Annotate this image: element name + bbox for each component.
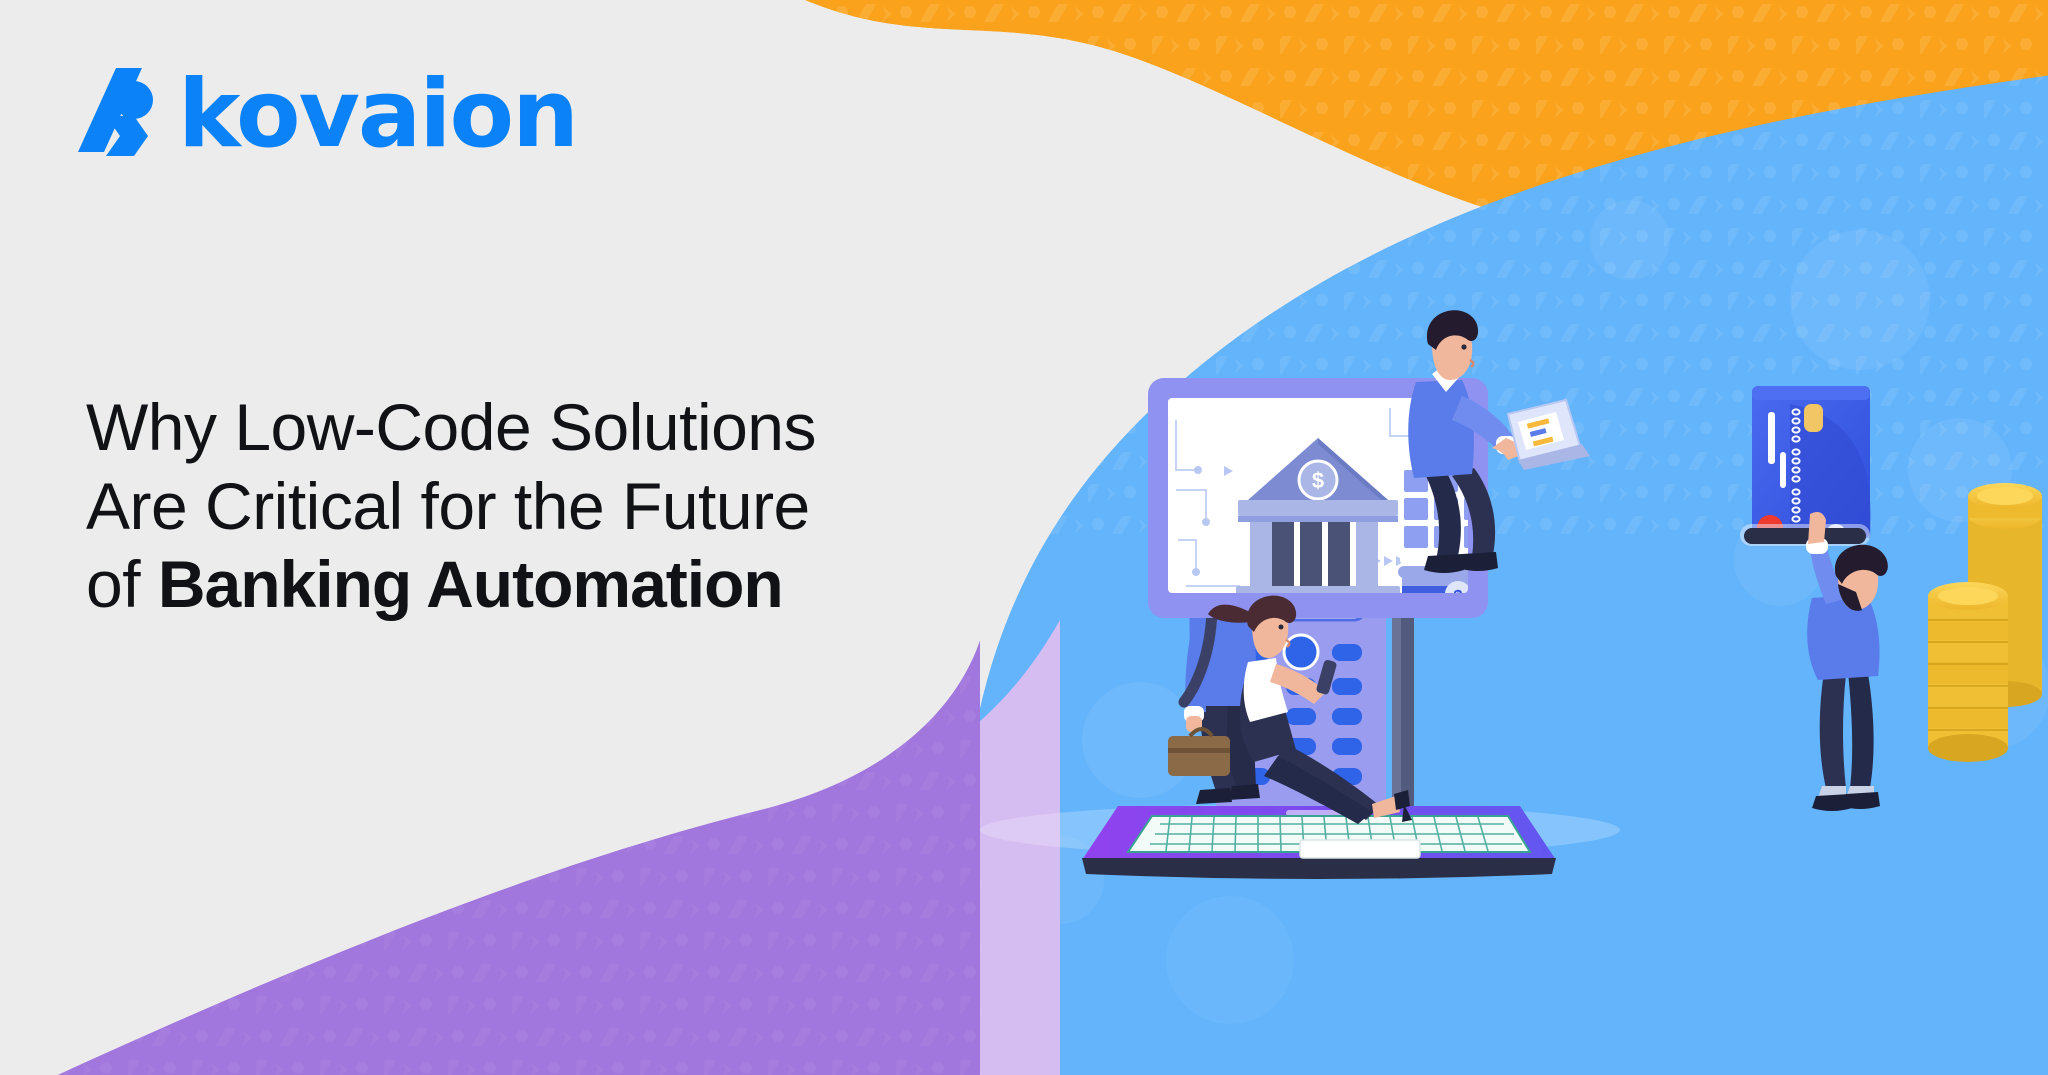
coin-stack-upper <box>1968 483 2042 518</box>
headline-line-3-prefix: of <box>86 547 158 621</box>
svg-text:$: $ <box>1312 468 1324 493</box>
kovaion-k-mark-icon <box>72 66 156 158</box>
svg-text:$: $ <box>1454 588 1463 605</box>
headline-emphasis: Banking Automation <box>158 547 783 621</box>
person-megaphone <box>1168 512 1389 804</box>
purple-wave-light <box>0 620 1060 1075</box>
page-title: Why Low-Code Solutions Are Critical for … <box>86 388 916 624</box>
poster-canvas: $ <box>0 0 2048 1075</box>
purple-wave-dark <box>0 600 1060 1075</box>
held-laptop <box>1508 400 1590 470</box>
headline-line-3: of Banking Automation <box>86 545 916 624</box>
person-phone-sitting <box>1208 596 1412 824</box>
person-atm <box>1806 512 1888 811</box>
blue-circle-blob <box>950 60 2048 1075</box>
atm-machine: $ <box>1398 466 1518 610</box>
brand-wordmark: kovaion <box>178 68 577 162</box>
coin-stack <box>1928 503 2042 762</box>
laptop: $ <box>1082 378 1556 879</box>
bank-building: $ <box>1230 438 1406 612</box>
banking-automation-illustration: $ <box>980 310 2042 879</box>
orange-blob <box>700 0 2048 300</box>
brand-logo[interactable]: kovaion <box>72 62 577 162</box>
pos-terminal <box>1216 390 1414 830</box>
credit-card <box>1740 386 1871 546</box>
receipt-paper <box>1230 390 1389 526</box>
person-laptop-sitting <box>1408 310 1590 573</box>
laptop-keyboard <box>1128 816 1530 858</box>
headline-line-1: Why Low-Code Solutions <box>86 388 916 467</box>
megaphone-icon <box>1296 512 1389 599</box>
headline-line-2: Are Critical for the Future <box>86 467 916 546</box>
